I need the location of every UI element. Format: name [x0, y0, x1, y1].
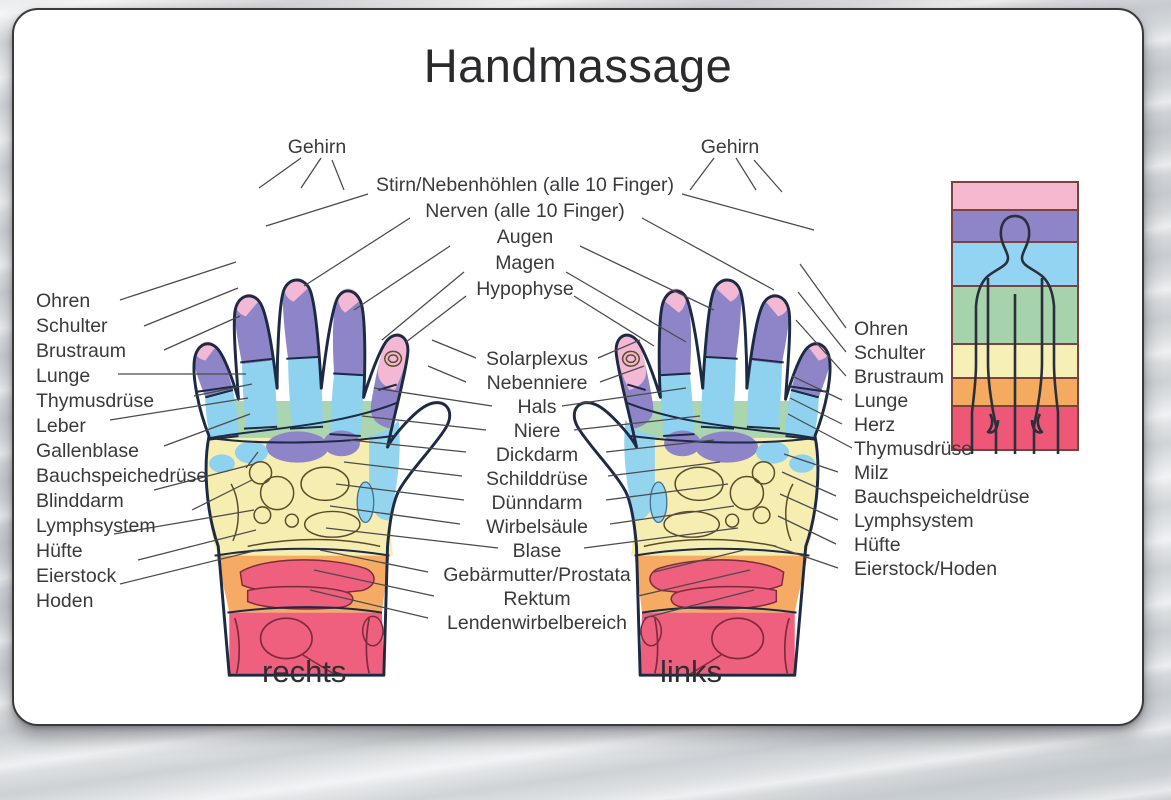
label-left-bauchspeichedruese: Bauchspeichedrüse	[36, 467, 207, 487]
label-right-schulter: Schulter	[854, 344, 926, 364]
label-gebaermutter-prostata: Gebärmutter/Prostata	[443, 566, 631, 586]
label-right-bauchspeicheldruese: Bauchspeicheldrüse	[854, 488, 1030, 508]
label-right-brustraum: Brustraum	[854, 368, 944, 388]
label-right-lunge: Lunge	[854, 392, 908, 412]
label-gehirn-right: Gehirn	[701, 138, 760, 158]
label-right-herz: Herz	[854, 416, 895, 436]
body-color-key-graphic	[952, 182, 1078, 454]
label-rektum: Rektum	[503, 590, 570, 610]
handmassage-card: Handmassage	[12, 8, 1144, 726]
label-schilddruese: Schilddrüse	[486, 470, 588, 490]
label-right-ohren: Ohren	[854, 320, 908, 340]
label-gehirn-left: Gehirn	[288, 138, 347, 158]
label-right-eierstock-hoden: Eierstock/Hoden	[854, 560, 997, 580]
label-nerven: Nerven (alle 10 Finger)	[425, 202, 624, 222]
label-right-milz: Milz	[854, 464, 889, 484]
label-left-schulter: Schulter	[36, 317, 108, 337]
label-left-lunge: Lunge	[36, 367, 90, 387]
label-right-huefte: Hüfte	[854, 536, 901, 556]
label-blase: Blase	[513, 542, 562, 562]
label-left-eierstock: Eierstock	[36, 567, 116, 587]
label-left-lymphsystem: Lymphsystem	[36, 517, 156, 537]
label-stirn-nebenhoehlen: Stirn/Nebenhöhlen (alle 10 Finger)	[376, 176, 674, 196]
label-left-brustraum: Brustraum	[36, 342, 126, 362]
footer-label-links: links	[660, 654, 722, 690]
chart-stage: Gehirn Gehirn Stirn/Nebenhöhlen (alle 10…	[14, 10, 1142, 724]
label-solarplexus: Solarplexus	[486, 350, 588, 370]
label-augen: Augen	[497, 228, 553, 248]
label-lendenwirbelbereich: Lendenwirbelbereich	[447, 614, 627, 634]
label-left-leber: Leber	[36, 417, 86, 437]
label-left-huefte: Hüfte	[36, 542, 83, 562]
label-hypophyse: Hypophyse	[476, 280, 574, 300]
label-left-ohren: Ohren	[36, 292, 90, 312]
label-dickdarm: Dickdarm	[496, 446, 578, 466]
label-niere: Niere	[514, 422, 561, 442]
label-right-lymphsystem: Lymphsystem	[854, 512, 974, 532]
label-duenndarm: Dünndarm	[491, 494, 582, 514]
label-nebenniere: Nebenniere	[487, 374, 588, 394]
label-left-thymusdruese: Thymusdrüse	[36, 392, 154, 412]
label-hals: Hals	[517, 398, 556, 418]
label-left-gallenblase: Gallenblase	[36, 442, 139, 462]
footer-label-rechts: rechts	[262, 654, 346, 690]
label-wirbelsaeule: Wirbelsäule	[486, 518, 588, 538]
label-left-blinddarm: Blinddarm	[36, 492, 124, 512]
label-right-thymusdruese: Thymusdrüse	[854, 440, 972, 460]
label-left-hoden: Hoden	[36, 592, 93, 612]
label-magen: Magen	[495, 254, 555, 274]
